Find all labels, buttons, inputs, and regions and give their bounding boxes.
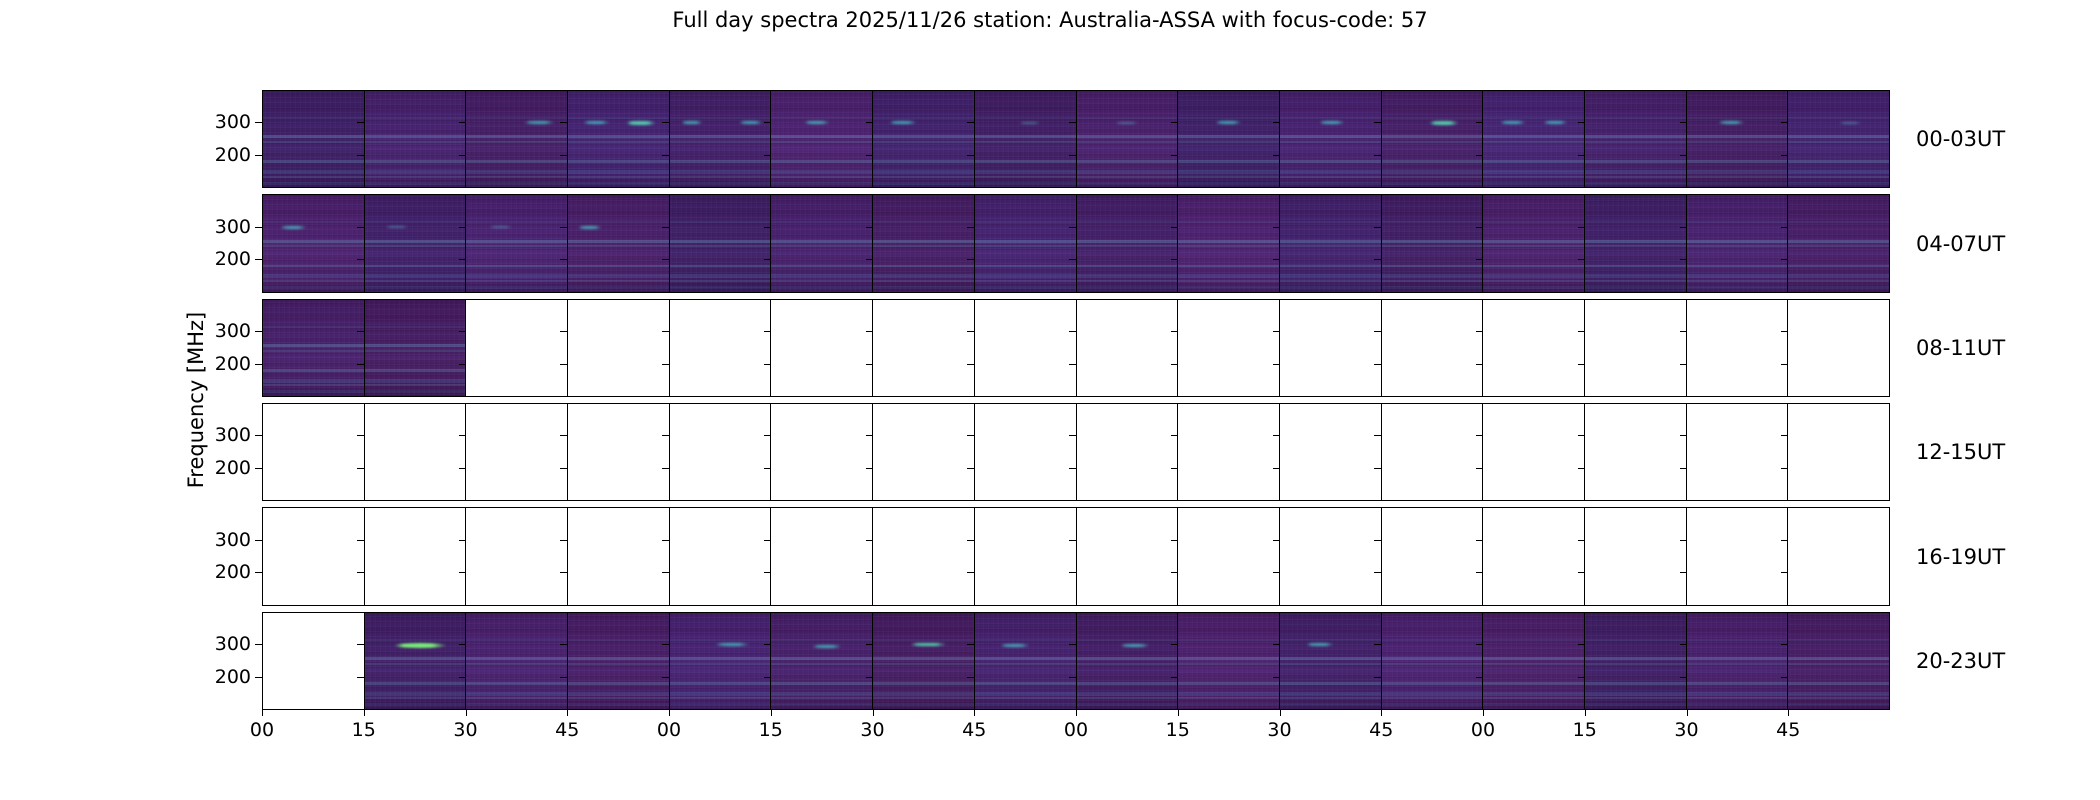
spectrogram-image [1280, 91, 1381, 187]
y-tick-mark-inner [1781, 122, 1788, 123]
spectrogram-noise-layer [263, 300, 364, 396]
y-tick-mark-inner [662, 468, 669, 469]
spectrogram-panel[interactable] [670, 300, 772, 396]
spectrogram-panel[interactable] [568, 300, 670, 396]
y-tick-mark-inner [459, 677, 466, 678]
x-tick-label: 15 [1166, 719, 1190, 741]
spectrogram-noise-layer [975, 91, 1076, 187]
y-tick-mark-inner [1171, 677, 1178, 678]
spectrogram-panel[interactable] [263, 300, 365, 396]
y-tick-mark-inner [764, 227, 771, 228]
x-tick-label: 30 [453, 719, 477, 741]
x-tick-label: 30 [1674, 719, 1698, 741]
spectrogram-image [1382, 91, 1483, 187]
x-tick-label: 30 [1267, 719, 1291, 741]
y-tick-mark-inner [1069, 435, 1076, 436]
y-tick-mark-inner [866, 122, 873, 123]
spectrogram-panel[interactable] [1077, 300, 1179, 396]
spectrogram-panel[interactable] [1687, 195, 1789, 291]
y-tick-mark [255, 677, 262, 678]
y-tick-mark-inner [1171, 540, 1178, 541]
y-tick-mark-inner [1680, 227, 1687, 228]
y-tick-mark-inner [1374, 677, 1381, 678]
y-tick-mark-inner [1476, 540, 1483, 541]
spectrogram-panel[interactable] [466, 91, 568, 187]
spectrogram-panel[interactable] [1687, 404, 1789, 500]
y-tick-mark-inner [662, 364, 669, 365]
spectrogram-panel[interactable] [568, 508, 670, 604]
spectrogram-panel[interactable] [1382, 508, 1484, 604]
y-tick-label: 200 [215, 353, 251, 375]
y-tick-mark-inner [1476, 677, 1483, 678]
y-tick-mark-inner [459, 540, 466, 541]
panel-strip [263, 508, 1889, 604]
spectrogram-image [263, 195, 364, 291]
spectrogram-panel[interactable] [670, 195, 772, 291]
y-tick-mark-inner [1476, 435, 1483, 436]
spectrogram-panel[interactable] [873, 195, 975, 291]
spectrogram-panel[interactable] [263, 508, 365, 604]
spectrogram-image [975, 195, 1076, 291]
spectrogram-noise-layer [771, 613, 872, 709]
spectrogram-noise-layer [771, 91, 872, 187]
spectrogram-panel[interactable] [1483, 613, 1585, 709]
spectrogram-image [568, 91, 669, 187]
spectrogram-panel[interactable] [975, 508, 1077, 604]
x-tick-mark [1076, 710, 1077, 716]
y-tick-mark-inner [1171, 468, 1178, 469]
spectrogram-panel[interactable] [365, 508, 467, 604]
spectrogram-noise-layer [568, 91, 669, 187]
spectrogram-panel[interactable] [1687, 300, 1789, 396]
x-tick-label: 30 [860, 719, 884, 741]
spectrogram-panel[interactable] [263, 195, 365, 291]
spectrogram-panel[interactable] [1788, 91, 1889, 187]
y-tick-mark-inner [1680, 364, 1687, 365]
spectrogram-noise-layer [1280, 195, 1381, 291]
y-tick-mark-inner [1578, 572, 1585, 573]
spectrogram-panel[interactable] [1687, 91, 1789, 187]
y-tick-mark-inner [764, 122, 771, 123]
spectrogram-row-04-07ut: 300200 [262, 194, 1890, 292]
spectrogram-panel[interactable] [365, 91, 467, 187]
y-tick-mark-inner [1374, 468, 1381, 469]
spectrogram-image [1077, 91, 1178, 187]
y-tick-mark-inner [967, 155, 974, 156]
spectrogram-image [873, 613, 974, 709]
spectrogram-panel[interactable] [975, 91, 1077, 187]
spectrogram-noise-layer [975, 613, 1076, 709]
y-tick-mark-inner [967, 540, 974, 541]
y-tick-mark-inner [1476, 122, 1483, 123]
spectrogram-panel[interactable] [1382, 613, 1484, 709]
spectrogram-image [568, 195, 669, 291]
y-tick-mark-inner [1781, 259, 1788, 260]
spectrogram-noise-layer [1382, 195, 1483, 291]
spectrogram-panel[interactable] [1382, 300, 1484, 396]
spectrogram-panel[interactable] [1788, 300, 1889, 396]
y-tick-mark-inner [1578, 331, 1585, 332]
y-tick-mark-inner [764, 364, 771, 365]
y-tick-mark-inner [866, 227, 873, 228]
y-tick-mark-inner [967, 644, 974, 645]
spectrogram-noise-layer [263, 195, 364, 291]
spectrogram-image [873, 195, 974, 291]
y-tick-mark-inner [1374, 227, 1381, 228]
spectrogram-panel[interactable] [771, 613, 873, 709]
spectrogram-panel[interactable] [1280, 300, 1382, 396]
y-tick-mark-inner [560, 572, 567, 573]
spectrogram-panel[interactable] [1178, 91, 1280, 187]
y-tick-mark-inner [560, 122, 567, 123]
spectrogram-figure: Full day spectra 2025/11/26 station: Aus… [0, 0, 2100, 800]
spectrogram-panel[interactable] [1585, 300, 1687, 396]
y-tick-mark-inner [1374, 435, 1381, 436]
y-tick-mark-inner [459, 122, 466, 123]
spectrogram-panel[interactable] [1483, 91, 1585, 187]
y-tick-mark-inner [1273, 572, 1280, 573]
y-tick-mark-inner [1273, 644, 1280, 645]
row-label-12-15ut: 12-15UT [1916, 440, 2005, 464]
spectrogram-panel[interactable] [975, 300, 1077, 396]
spectrogram-panel[interactable] [670, 508, 772, 604]
spectrogram-panel[interactable] [1077, 508, 1179, 604]
x-tick-label: 45 [555, 719, 579, 741]
x-tick-label: 15 [1573, 719, 1597, 741]
y-tick-mark-inner [662, 227, 669, 228]
spectrogram-panel[interactable] [670, 404, 772, 500]
y-tick-mark-inner [560, 227, 567, 228]
y-tick-mark-inner [1476, 155, 1483, 156]
spectrogram-noise-layer [670, 195, 771, 291]
y-tick-mark-inner [1069, 331, 1076, 332]
spectrogram-noise-layer [1178, 195, 1279, 291]
spectrogram-panel[interactable] [466, 300, 568, 396]
y-tick-mark [255, 468, 262, 469]
spectrogram-noise-layer [1382, 613, 1483, 709]
y-tick-mark-inner [1273, 155, 1280, 156]
y-tick-mark-inner [1069, 122, 1076, 123]
y-tick-mark-inner [1781, 435, 1788, 436]
spectrogram-panel[interactable] [1077, 613, 1179, 709]
x-tick-mark [1788, 710, 1789, 716]
y-tick-mark-inner [1680, 122, 1687, 123]
x-tick-mark [1280, 710, 1281, 716]
y-tick-mark-inner [1578, 364, 1585, 365]
spectrogram-image [1483, 91, 1584, 187]
spectrogram-noise-layer [1687, 195, 1788, 291]
spectrogram-noise-layer [365, 613, 466, 709]
spectrogram-panel[interactable] [263, 91, 365, 187]
spectrogram-panel[interactable] [1585, 195, 1687, 291]
spectrogram-panel[interactable] [466, 508, 568, 604]
y-tick-mark-inner [1578, 435, 1585, 436]
spectrogram-panel[interactable] [771, 508, 873, 604]
spectrogram-panel[interactable] [1178, 613, 1280, 709]
y-tick-mark-inner [1069, 364, 1076, 365]
spectrogram-noise-layer [873, 195, 974, 291]
spectrogram-panel[interactable] [466, 195, 568, 291]
spectrogram-panel[interactable] [1077, 91, 1179, 187]
spectrogram-panel[interactable] [1382, 195, 1484, 291]
y-tick-mark-inner [459, 364, 466, 365]
spectrogram-panel[interactable] [771, 91, 873, 187]
spectrogram-panel[interactable] [771, 195, 873, 291]
y-tick-mark-inner [1578, 644, 1585, 645]
spectrogram-image [1585, 91, 1686, 187]
spectrogram-image [1382, 195, 1483, 291]
spectrogram-panel[interactable] [1788, 404, 1889, 500]
spectrogram-noise-layer [1585, 91, 1686, 187]
spectrogram-panel[interactable] [1178, 300, 1280, 396]
y-tick-mark-inner [357, 540, 364, 541]
row-frame [262, 194, 1890, 292]
spectrogram-panel[interactable] [263, 404, 365, 500]
y-tick-mark-inner [866, 435, 873, 436]
row-label-08-11ut: 08-11UT [1916, 336, 2005, 360]
y-tick-mark-inner [1374, 572, 1381, 573]
y-tick-mark-inner [1680, 468, 1687, 469]
y-tick-mark-inner [1781, 155, 1788, 156]
spectrogram-noise-layer [466, 613, 567, 709]
spectrogram-panel[interactable] [1382, 91, 1484, 187]
spectrogram-panel[interactable] [1483, 300, 1585, 396]
spectrogram-image [1788, 91, 1889, 187]
y-tick-mark-inner [764, 540, 771, 541]
spectrogram-image [670, 91, 771, 187]
x-tick-mark [1687, 710, 1688, 716]
spectrogram-noise-layer [263, 91, 364, 187]
y-tick-mark-inner [1171, 331, 1178, 332]
x-tick-mark [669, 710, 670, 716]
spectrogram-panel[interactable] [1483, 508, 1585, 604]
spectrogram-panel[interactable] [975, 613, 1077, 709]
y-tick-mark-inner [560, 155, 567, 156]
spectrogram-noise-layer [1077, 195, 1178, 291]
spectrogram-image [1280, 613, 1381, 709]
spectrogram-panel[interactable] [365, 404, 467, 500]
y-tick-mark-inner [1476, 331, 1483, 332]
panel-strip [263, 195, 1889, 291]
spectrogram-panel[interactable] [1077, 404, 1179, 500]
y-tick-mark-inner [1781, 677, 1788, 678]
spectrogram-noise-layer [1077, 91, 1178, 187]
spectrogram-image [1687, 613, 1788, 709]
y-tick-mark-inner [1680, 331, 1687, 332]
y-tick-mark-inner [1476, 259, 1483, 260]
y-tick-mark-inner [459, 227, 466, 228]
spectrogram-panel[interactable] [1585, 404, 1687, 500]
y-tick-mark-inner [1273, 364, 1280, 365]
spectrogram-panel[interactable] [568, 91, 670, 187]
y-tick-mark-inner [1374, 331, 1381, 332]
y-tick-mark [255, 435, 262, 436]
spectrogram-panel[interactable] [1483, 195, 1585, 291]
spectrogram-image [1687, 195, 1788, 291]
spectrogram-panel[interactable] [1077, 195, 1179, 291]
y-tick-mark-inner [1273, 677, 1280, 678]
y-tick-mark-inner [662, 331, 669, 332]
spectrogram-image [1483, 195, 1584, 291]
spectrogram-noise-layer [975, 195, 1076, 291]
y-tick-mark-inner [560, 540, 567, 541]
spectrogram-panel[interactable] [1178, 404, 1280, 500]
spectrogram-noise-layer [670, 613, 771, 709]
spectrogram-image [1178, 91, 1279, 187]
x-tick-mark [873, 710, 874, 716]
spectrogram-image [568, 613, 669, 709]
spectrogram-panel[interactable] [670, 91, 772, 187]
spectrogram-noise-layer [873, 613, 974, 709]
spectrogram-panel[interactable] [1788, 508, 1889, 604]
spectrogram-panel[interactable] [466, 404, 568, 500]
y-tick-mark [255, 227, 262, 228]
y-tick-mark-inner [357, 155, 364, 156]
spectrogram-panel[interactable] [1687, 508, 1789, 604]
y-tick-mark-inner [1171, 259, 1178, 260]
y-tick-mark-inner [1273, 227, 1280, 228]
y-tick-mark-inner [662, 122, 669, 123]
y-tick-mark-inner [1680, 644, 1687, 645]
spectrogram-row-20-23ut: 30020000153045001530450015304500153045 [262, 612, 1890, 710]
y-tick-mark-inner [1476, 227, 1483, 228]
y-tick-mark-inner [1781, 572, 1788, 573]
spectrogram-panel[interactable] [975, 195, 1077, 291]
y-tick-mark-inner [1781, 331, 1788, 332]
spectrogram-panel[interactable] [771, 404, 873, 500]
spectrogram-panel[interactable] [466, 613, 568, 709]
spectrogram-panel[interactable] [975, 404, 1077, 500]
y-tick-mark-inner [1273, 435, 1280, 436]
y-tick-mark-inner [662, 644, 669, 645]
y-tick-mark-inner [866, 572, 873, 573]
spectrogram-panel[interactable] [1178, 195, 1280, 291]
y-tick-mark [255, 331, 262, 332]
spectrogram-noise-layer [1788, 195, 1889, 291]
spectrogram-image [1788, 195, 1889, 291]
y-tick-mark-inner [1680, 540, 1687, 541]
y-tick-mark-inner [967, 331, 974, 332]
y-tick-mark-inner [1171, 155, 1178, 156]
spectrogram-panel[interactable] [771, 300, 873, 396]
spectrogram-panel[interactable] [568, 195, 670, 291]
row-label-00-03ut: 00-03UT [1916, 127, 2005, 151]
y-tick-mark-inner [560, 468, 567, 469]
spectrogram-image [670, 613, 771, 709]
spectrogram-image [263, 300, 364, 396]
y-tick-mark-inner [1374, 155, 1381, 156]
y-tick-mark-inner [357, 644, 364, 645]
spectrogram-panel[interactable] [670, 613, 772, 709]
y-tick-mark-inner [357, 364, 364, 365]
spectrogram-panel[interactable] [365, 613, 467, 709]
spectrogram-noise-layer [1483, 91, 1584, 187]
spectrogram-image [466, 91, 567, 187]
spectrogram-panel[interactable] [1585, 91, 1687, 187]
spectrogram-panel[interactable] [1280, 613, 1382, 709]
spectrogram-panel[interactable] [1788, 613, 1889, 709]
y-tick-mark-inner [1069, 572, 1076, 573]
y-tick-mark-inner [764, 155, 771, 156]
y-tick-mark-inner [662, 155, 669, 156]
y-tick-mark-inner [1374, 364, 1381, 365]
x-tick-label: 00 [250, 719, 274, 741]
y-tick-mark-inner [662, 435, 669, 436]
spectrogram-panel[interactable] [1280, 195, 1382, 291]
spectrogram-panel[interactable] [1280, 91, 1382, 187]
y-tick-mark-inner [1476, 364, 1483, 365]
spectrogram-image [365, 300, 466, 396]
y-tick-mark-inner [1171, 364, 1178, 365]
row-label-20-23ut: 20-23UT [1916, 649, 2005, 673]
spectrogram-row-00-03ut: 300200 [262, 90, 1890, 188]
spectrogram-panel[interactable] [1585, 508, 1687, 604]
spectrogram-panel[interactable] [873, 613, 975, 709]
spectrogram-panel[interactable] [873, 404, 975, 500]
y-tick-mark-inner [967, 435, 974, 436]
x-tick-mark [1381, 710, 1382, 716]
x-tick-label: 15 [352, 719, 376, 741]
spectrogram-noise-layer [568, 195, 669, 291]
y-tick-mark-inner [1273, 259, 1280, 260]
spectrogram-panel[interactable] [263, 613, 365, 709]
spectrogram-panel[interactable] [1687, 613, 1789, 709]
y-tick-mark-inner [1781, 468, 1788, 469]
spectrogram-image [1178, 195, 1279, 291]
spectrogram-panel[interactable] [1178, 508, 1280, 604]
y-tick-label: 200 [215, 457, 251, 479]
y-tick-mark-inner [1069, 155, 1076, 156]
y-tick-mark-inner [866, 331, 873, 332]
y-tick-mark-inner [357, 227, 364, 228]
row-frame [262, 612, 1890, 710]
spectrogram-panel[interactable] [1483, 404, 1585, 500]
x-tick-mark [771, 710, 772, 716]
spectrogram-noise-layer [466, 195, 567, 291]
spectrogram-panel[interactable] [1280, 508, 1382, 604]
y-tick-mark-inner [357, 572, 364, 573]
y-tick-mark-inner [1273, 540, 1280, 541]
y-tick-mark-inner [1273, 468, 1280, 469]
spectrogram-panel[interactable] [873, 91, 975, 187]
y-tick-mark-inner [1171, 435, 1178, 436]
spectrogram-panel[interactable] [365, 195, 467, 291]
spectrogram-noise-layer [1483, 613, 1584, 709]
x-tick-label: 00 [1471, 719, 1495, 741]
spectrogram-noise-layer [1280, 91, 1381, 187]
spectrogram-panel[interactable] [873, 300, 975, 396]
spectrogram-image [1788, 613, 1889, 709]
spectrogram-image [1178, 613, 1279, 709]
spectrogram-image [771, 613, 872, 709]
spectrogram-panel[interactable] [568, 404, 670, 500]
spectrogram-panel[interactable] [1788, 195, 1889, 291]
y-tick-mark-inner [1578, 122, 1585, 123]
spectrogram-image [1483, 613, 1584, 709]
spectrogram-panel[interactable] [1585, 613, 1687, 709]
spectrogram-panel[interactable] [873, 508, 975, 604]
spectrogram-panel[interactable] [568, 613, 670, 709]
spectrogram-image [466, 613, 567, 709]
spectrogram-panel[interactable] [1280, 404, 1382, 500]
y-tick-mark-inner [1578, 227, 1585, 228]
spectrogram-noise-layer [1178, 91, 1279, 187]
spectrogram-panel[interactable] [365, 300, 467, 396]
y-tick-mark-inner [1069, 259, 1076, 260]
y-tick-mark-inner [1171, 227, 1178, 228]
spectrogram-panel[interactable] [1382, 404, 1484, 500]
row-frame [262, 507, 1890, 605]
